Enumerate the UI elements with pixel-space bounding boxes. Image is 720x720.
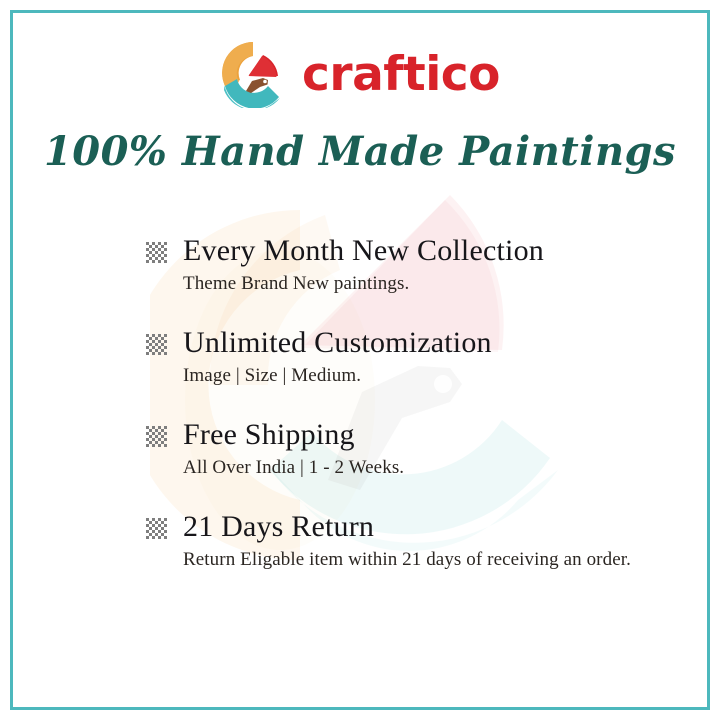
promo-banner: craftico 100% Hand Made Paintings	[0, 0, 720, 720]
woven-weave-square-icon	[146, 518, 167, 539]
woven-weave-square-icon	[146, 334, 167, 355]
list-item-title: Every Month New Collection	[183, 234, 660, 268]
feature-list: Every Month New Collection Theme Brand N…	[146, 234, 660, 573]
craftico-c-brush-logo	[220, 38, 286, 108]
list-item-text: 21 Days Return Return Eligable item with…	[183, 510, 660, 572]
woven-weave-square-icon	[146, 426, 167, 447]
list-item-subtitle: Return Eligable item within 21 days of r…	[183, 547, 660, 572]
list-item: Unlimited Customization Image | Size | M…	[146, 326, 660, 388]
list-item-text: Unlimited Customization Image | Size | M…	[183, 326, 660, 388]
brand-wordmark: craftico	[302, 51, 500, 98]
list-item-subtitle: All Over India | 1 - 2 Weeks.	[183, 455, 660, 480]
list-item-text: Free Shipping All Over India | 1 - 2 Wee…	[183, 418, 660, 480]
list-item-title: 21 Days Return	[183, 510, 660, 544]
list-item: 21 Days Return Return Eligable item with…	[146, 510, 660, 572]
list-item-text: Every Month New Collection Theme Brand N…	[183, 234, 660, 296]
list-item-subtitle: Image | Size | Medium.	[183, 363, 660, 388]
woven-weave-square-icon	[146, 242, 167, 263]
page-title: 100% Hand Made Paintings	[0, 128, 720, 175]
list-item: Every Month New Collection Theme Brand N…	[146, 234, 660, 296]
list-item-title: Free Shipping	[183, 418, 660, 452]
brand-lockup: craftico	[0, 34, 720, 112]
list-item-subtitle: Theme Brand New paintings.	[183, 271, 660, 296]
list-item-title: Unlimited Customization	[183, 326, 660, 360]
list-item: Free Shipping All Over India | 1 - 2 Wee…	[146, 418, 660, 480]
